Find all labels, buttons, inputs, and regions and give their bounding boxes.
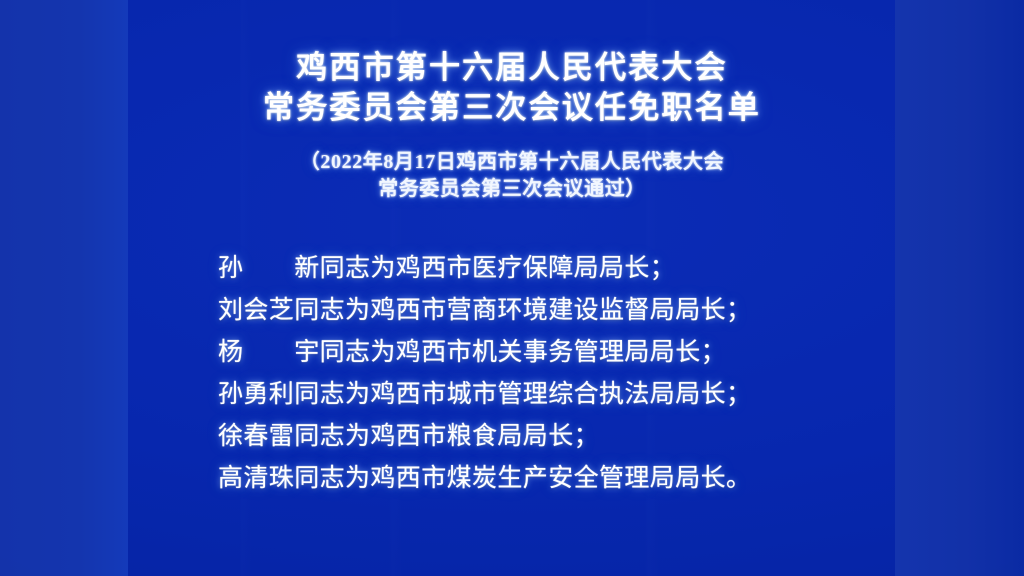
appointment-line: 高清珠同志为鸡西市煤炭生产安全管理局局长。	[218, 457, 958, 499]
slide-content: 鸡西市第十六届人民代表大会 常务委员会第三次会议任免职名单 （2022年8月17…	[0, 0, 1024, 576]
subtitle-line-1: （2022年8月17日鸡西市第十六届人民代表大会	[0, 149, 1024, 176]
appointment-line: 孙 新同志为鸡西市医疗保障局局长；	[218, 247, 958, 289]
subtitle-line-2: 常务委员会第三次会议通过）	[0, 176, 1024, 203]
broadcast-slide: 鸡西市第十六届人民代表大会 常务委员会第三次会议任免职名单 （2022年8月17…	[0, 0, 1024, 576]
appointment-line: 刘会芝同志为鸡西市营商环境建设监督局局长；	[218, 289, 958, 331]
title-line-1: 鸡西市第十六届人民代表大会	[0, 48, 1024, 88]
title-line-2: 常务委员会第三次会议任免职名单	[0, 88, 1024, 128]
appointment-list: 孙 新同志为鸡西市医疗保障局局长； 刘会芝同志为鸡西市营商环境建设监督局局长； …	[218, 247, 958, 499]
title-block: 鸡西市第十六届人民代表大会 常务委员会第三次会议任免职名单	[0, 48, 1024, 128]
appointment-line: 孙勇利同志为鸡西市城市管理综合执法局局长；	[218, 373, 958, 415]
appointment-line: 杨 宇同志为鸡西市机关事务管理局局长；	[218, 331, 958, 373]
subtitle-block: （2022年8月17日鸡西市第十六届人民代表大会 常务委员会第三次会议通过）	[0, 149, 1024, 203]
appointment-line: 徐春雷同志为鸡西市粮食局局长；	[218, 415, 958, 457]
